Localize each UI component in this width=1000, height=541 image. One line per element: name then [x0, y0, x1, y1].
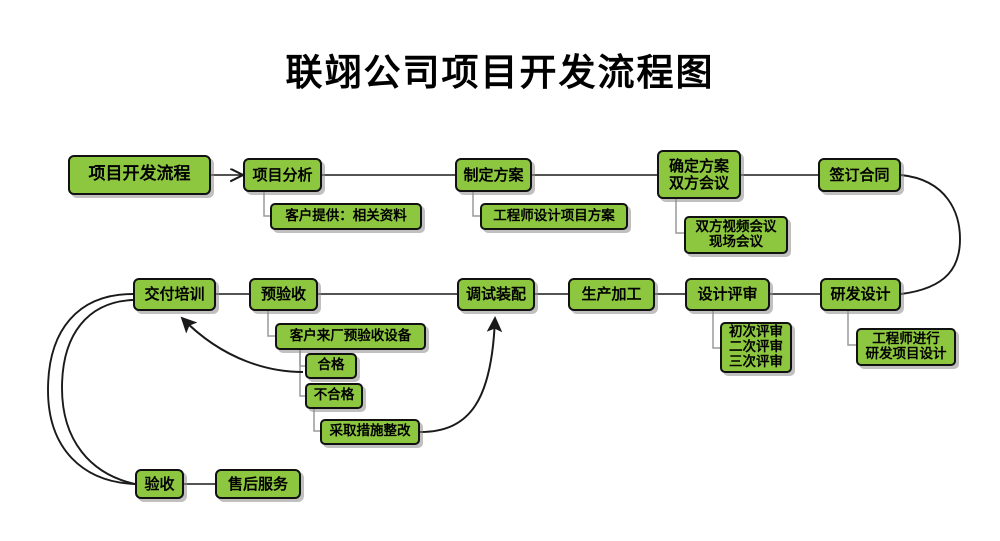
- training-to-acceptance-curve: [48, 294, 135, 484]
- node-project-dev-process[interactable]: 项目开发流程: [68, 155, 211, 195]
- page-title: 联翊公司项目开发流程图: [0, 42, 1000, 96]
- node-rd-design[interactable]: 研发设计: [820, 278, 901, 311]
- node-project-analysis[interactable]: 项目分析: [243, 158, 322, 192]
- node-make-plan[interactable]: 制定方案: [455, 158, 532, 192]
- contract-to-rd-curve: [901, 175, 960, 294]
- node-design-review[interactable]: 设计评审: [685, 278, 770, 311]
- rectify-to-assembly-curve: [420, 318, 495, 432]
- node-rd-design-detail[interactable]: 工程师进行 研发项目设计: [856, 328, 956, 366]
- node-customer-onsite-check[interactable]: 客户来厂预验收设备: [275, 323, 426, 350]
- node-acceptance[interactable]: 验收: [135, 469, 184, 499]
- node-fail[interactable]: 不合格: [305, 383, 363, 409]
- node-meeting-types[interactable]: 双方视频会议 现场会议: [684, 216, 788, 254]
- node-confirm-plan-meeting[interactable]: 确定方案 双方会议: [657, 150, 741, 199]
- node-review-stages[interactable]: 初次评审 二次评审 三次评审: [720, 322, 792, 373]
- node-delivery-training[interactable]: 交付培训: [133, 278, 216, 311]
- node-pre-acceptance[interactable]: 预验收: [249, 278, 318, 311]
- node-pass[interactable]: 合格: [305, 353, 357, 379]
- node-after-sales[interactable]: 售后服务: [215, 469, 301, 499]
- node-engineer-design-plan[interactable]: 工程师设计项目方案: [480, 203, 628, 230]
- node-rectify[interactable]: 采取措施整改: [320, 419, 420, 445]
- node-production[interactable]: 生产加工: [568, 278, 655, 311]
- flowchart-canvas: 联翊公司项目开发流程图: [0, 0, 1000, 541]
- node-assembly-debug[interactable]: 调试装配: [457, 278, 535, 311]
- node-sign-contract[interactable]: 签订合同: [818, 158, 901, 192]
- node-customer-materials[interactable]: 客户提供：相关资料: [270, 203, 422, 230]
